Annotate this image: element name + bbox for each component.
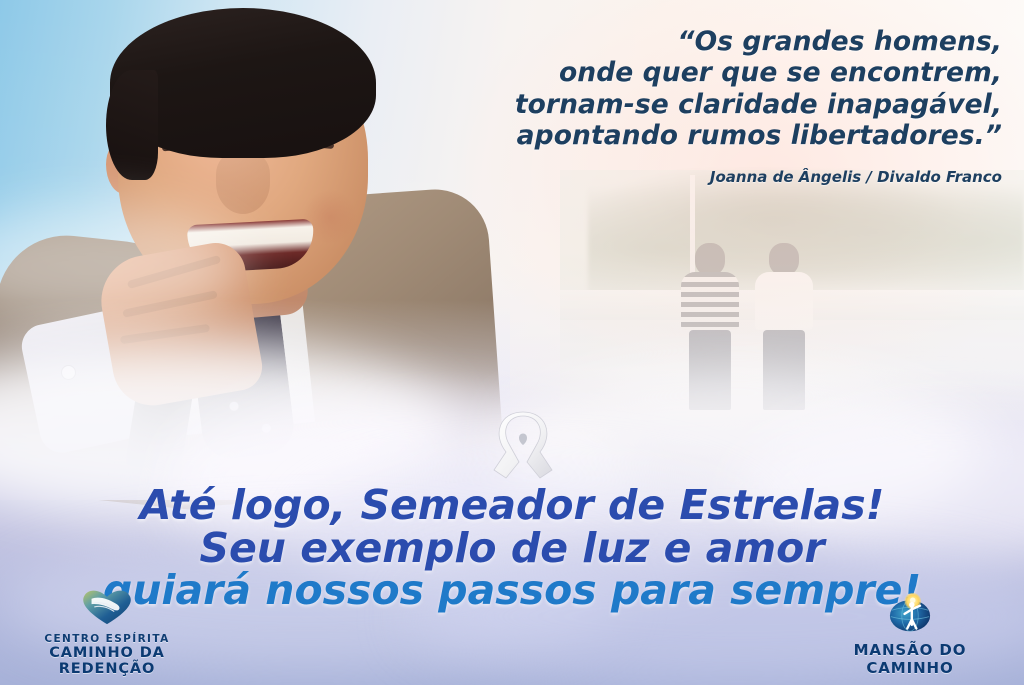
- person-torso: [755, 272, 813, 330]
- hair-sideburn: [106, 70, 158, 180]
- logo-right-line-1: MANSÃO DO CAMINHO: [810, 641, 1010, 677]
- logo-left-line-1: CENTRO ESPÍRITA: [12, 633, 202, 645]
- quote-line-4: apontando rumos libertadores.”: [402, 120, 1002, 151]
- quote-line-1: “Os grandes homens,: [402, 26, 1002, 57]
- quote-line-2: onde quer que se encontrem,: [402, 57, 1002, 88]
- person-head: [769, 243, 799, 275]
- person-torso: [681, 272, 739, 330]
- white-mourning-ribbon-icon: [488, 408, 558, 482]
- nose: [216, 152, 270, 214]
- person-head: [695, 243, 725, 275]
- tribute-poster: “Os grandes homens, onde quer que se enc…: [0, 0, 1024, 685]
- globe-with-figure-icon: [810, 592, 1010, 638]
- quote-attribution: Joanna de Ângelis / Divaldo Franco: [402, 168, 1002, 186]
- logo-centro-espirita-caminho-da-redencao[interactable]: CENTRO ESPÍRITA CAMINHO DA REDENÇÃO: [12, 586, 202, 677]
- quote-line-3: tornam-se claridade inapagável,: [402, 89, 1002, 120]
- logo-mansao-do-caminho[interactable]: MANSÃO DO CAMINHO: [810, 592, 1010, 677]
- headline-line-1: Até logo, Semeador de Estrelas!: [0, 484, 1024, 527]
- heart-with-hands-icon: [12, 586, 202, 630]
- headline-line-2: Seu exemplo de luz e amor: [0, 527, 1024, 570]
- logo-left-line-2: CAMINHO DA REDENÇÃO: [12, 645, 202, 677]
- quote-block: “Os grandes homens, onde quer que se enc…: [402, 26, 1002, 151]
